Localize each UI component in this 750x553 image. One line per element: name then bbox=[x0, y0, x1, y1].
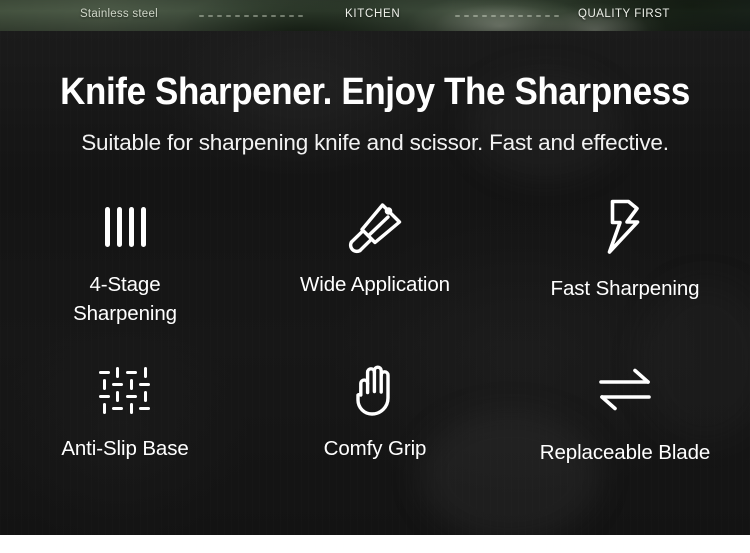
page-title: Knife Sharpener. Enjoy The Sharpness bbox=[30, 69, 720, 115]
woven-grid-icon bbox=[99, 360, 151, 422]
swap-arrows-icon bbox=[596, 360, 654, 422]
dotted-divider-icon bbox=[199, 13, 303, 18]
banner-content-row: Stainless steel KITCHEN QUALITY FIRST bbox=[0, 0, 750, 31]
banner-center-text: KITCHEN bbox=[345, 8, 400, 20]
feature-item-replaceable-blade: Replaceable Blade bbox=[500, 350, 750, 516]
feature-label: Replaceable Blade bbox=[540, 438, 710, 467]
top-banner: Stainless steel KITCHEN QUALITY FIRST bbox=[0, 0, 750, 31]
feature-label: Wide Application bbox=[300, 270, 450, 299]
page-subtitle: Suitable for sharpening knife and scisso… bbox=[0, 128, 750, 158]
feature-item-wide-application: Wide Application bbox=[250, 186, 500, 350]
feature-label: 4-Stage Sharpening bbox=[35, 270, 215, 328]
four-bars-icon bbox=[105, 196, 146, 258]
hand-palm-icon bbox=[350, 360, 400, 422]
feature-item-comfy-grip: Comfy Grip bbox=[250, 350, 500, 516]
dotted-divider-icon-2 bbox=[455, 13, 559, 18]
feature-label: Anti-Slip Base bbox=[61, 434, 188, 463]
feature-label: Comfy Grip bbox=[324, 434, 427, 463]
banner-right-text: QUALITY FIRST bbox=[578, 8, 670, 20]
feature-item-anti-slip-base: Anti-Slip Base bbox=[0, 350, 250, 516]
feature-item-four-stage-sharpening: 4-Stage Sharpening bbox=[0, 186, 250, 350]
feature-item-fast-sharpening: Fast Sharpening bbox=[500, 186, 750, 350]
product-feature-banner: Stainless steel KITCHEN QUALITY FIRST Kn… bbox=[0, 0, 750, 553]
cleaver-knife-icon bbox=[344, 196, 406, 258]
lightning-bolt-icon bbox=[603, 196, 647, 258]
banner-left-text: Stainless steel bbox=[80, 8, 158, 20]
feature-grid: 4-Stage Sharpening Wide Application bbox=[0, 186, 750, 516]
bottom-white-strip bbox=[0, 535, 750, 553]
feature-label: Fast Sharpening bbox=[551, 274, 700, 303]
